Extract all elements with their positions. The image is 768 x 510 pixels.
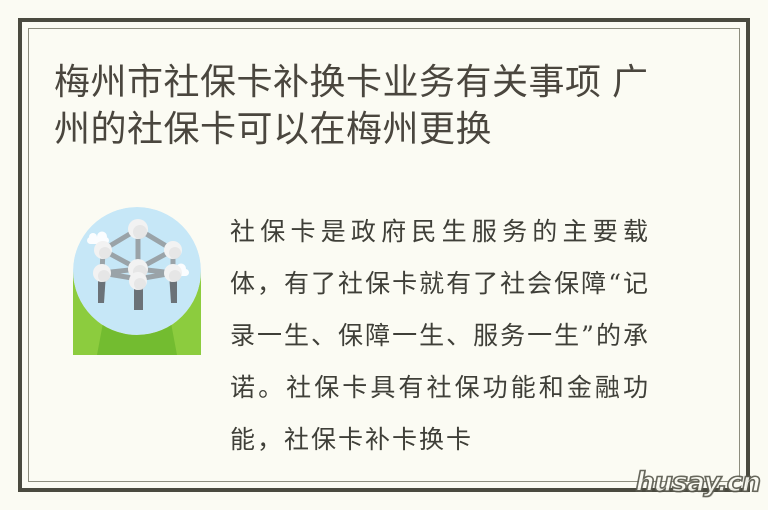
site-watermark: husay.cn xyxy=(635,467,760,498)
article-body-text: 社保卡是政府民生服务的主要载体，有了社保卡就有了社会保障“记录一生、保障一生、服… xyxy=(230,206,650,466)
atomium-illustration xyxy=(73,207,201,355)
atomium-illustration-graphic xyxy=(73,207,201,355)
page-title: 梅州市社保卡补换卡业务有关事项 广州的社保卡可以在梅州更换 xyxy=(54,58,674,152)
